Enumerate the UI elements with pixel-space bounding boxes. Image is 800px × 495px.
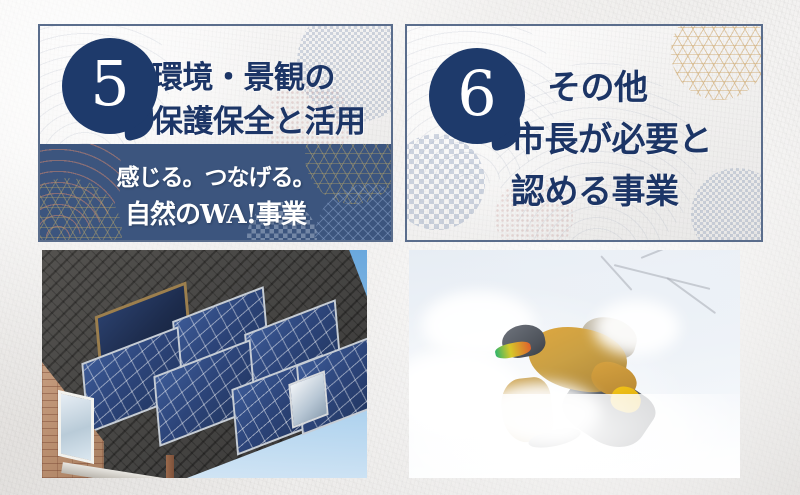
solar-panel-roof-photo — [42, 250, 367, 478]
benefit-card-5: 5 環境・景観の 保護保全と活用 感じる。つなげる。 自然のWA!事業 — [38, 24, 393, 242]
card-number-badge-6: 6 — [429, 48, 525, 144]
benefit-card-6: 6 その他 市長が必要と 認める事業 — [405, 24, 763, 242]
card-number-5: 5 — [62, 38, 158, 134]
house-window — [58, 390, 94, 464]
card-5-tagline-line-2: 自然のWA!事業 — [40, 194, 391, 231]
card-5-heading-line-1: 環境・景観の — [152, 58, 335, 100]
card-number-badge-5: 5 — [62, 38, 158, 134]
snow-spray-foreground — [409, 394, 740, 478]
card-6-heading-line-2: 市長が必要と — [511, 118, 712, 162]
card-5-heading-line-2: 保護保全と活用 — [152, 102, 366, 144]
card-5-tagline-band: 感じる。つなげる。 自然のWA!事業 — [40, 144, 391, 240]
ornament-ichimatsu-fine-circle — [691, 168, 763, 242]
card-6-heading-line-3: 認める事業 — [511, 170, 679, 214]
ornament-ichimatsu-circle — [405, 134, 485, 230]
ornament-asanoha-gold-circle — [671, 24, 763, 100]
downpipe — [166, 455, 174, 478]
snow-spray — [594, 300, 680, 355]
card-6-heading-line-1: その他 — [547, 66, 648, 110]
card-number-6: 6 — [429, 48, 525, 144]
card-5-tagline-line-1: 感じる。つなげる。 — [40, 158, 391, 192]
snowboarder-powder-photo — [409, 250, 740, 478]
